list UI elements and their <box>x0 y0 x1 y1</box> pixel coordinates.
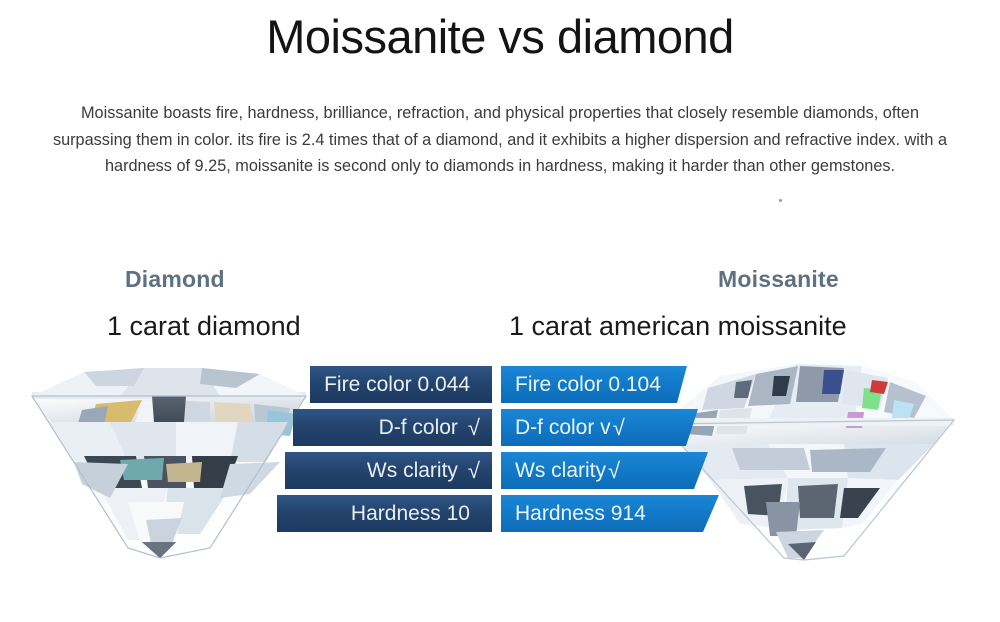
bar-right-hardness-label: Hardness 914 <box>515 503 646 524</box>
bar-left-hardness: Hardness 10 <box>277 495 492 532</box>
bar-right-fire-color-label: Fire color 0.104 <box>515 374 661 395</box>
check-icon: √ <box>468 460 480 482</box>
bar-right-fire-color: Fire color 0.104 <box>501 366 687 403</box>
check-icon: √ <box>608 460 620 482</box>
bar-left-hardness-label: Hardness 10 <box>351 503 470 524</box>
bar-left-fire-color: Fire color 0.044 <box>310 366 492 403</box>
bar-right-ws-clarity-label: Ws clarity <box>515 460 606 481</box>
comparison-table: Fire color 0.044 Fire color 0.104 D-f co… <box>0 0 1000 622</box>
bar-left-df-color-label: D-f color <box>379 417 458 438</box>
bar-right-hardness: Hardness 914 <box>501 495 719 532</box>
bar-left-fire-color-label: Fire color 0.044 <box>324 374 470 395</box>
bar-right-ws-clarity: Ws clarity √ <box>501 452 708 489</box>
check-icon: √ <box>468 417 480 439</box>
bar-right-df-color-label: D-f color v <box>515 417 611 438</box>
bar-left-df-color: D-f color √ <box>293 409 492 446</box>
bar-right-df-color: D-f color v √ <box>501 409 698 446</box>
bar-left-ws-clarity-label: Ws clarity <box>367 460 458 481</box>
bar-left-ws-clarity: Ws clarity √ <box>285 452 492 489</box>
check-icon: √ <box>613 417 625 439</box>
